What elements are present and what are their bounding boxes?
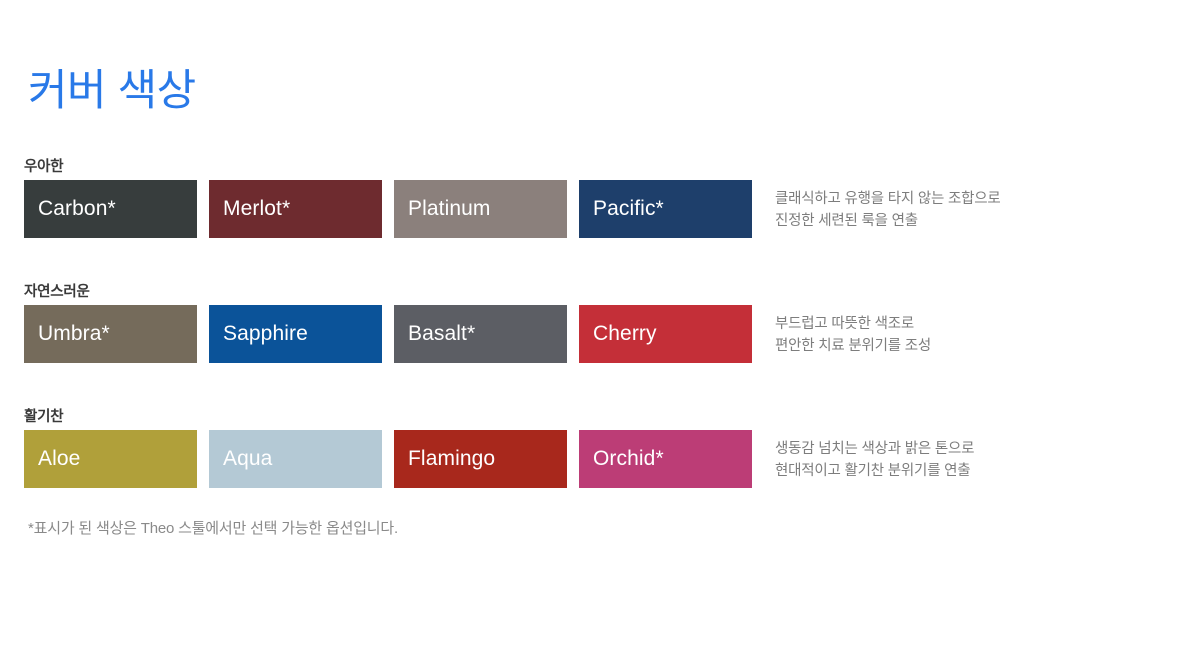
color-swatch-label: Platinum (408, 197, 491, 221)
color-swatch-label: Flamingo (408, 447, 495, 471)
color-swatch[interactable]: Cherry (579, 305, 752, 363)
color-group-description: 클래식하고 유행을 타지 않는 조합으로진정한 세련된 룩을 연출 (775, 188, 1001, 233)
color-swatch[interactable]: Merlot* (209, 180, 382, 238)
swatch-row: Carbon*Merlot*PlatinumPacific* (24, 180, 752, 238)
color-swatch[interactable]: Flamingo (394, 430, 567, 488)
color-swatch[interactable]: Basalt* (394, 305, 567, 363)
color-swatch-label: Pacific* (593, 197, 664, 221)
description-line: 부드럽고 따뜻한 색조로 (775, 313, 931, 335)
color-group-label: 자연스러운 (24, 280, 90, 301)
color-swatch[interactable]: Sapphire (209, 305, 382, 363)
color-swatch-label: Carbon* (38, 197, 116, 221)
color-swatch-label: Aloe (38, 447, 80, 471)
color-group: 활기찬AloeAquaFlamingoOrchid*생동감 넘치는 색상과 밝은… (0, 405, 1196, 530)
color-swatch-label: Aqua (223, 447, 272, 471)
color-swatch-label: Cherry (593, 322, 657, 346)
color-group-description: 부드럽고 따뜻한 색조로편안한 치료 분위기를 조성 (775, 313, 931, 358)
color-swatch[interactable]: Pacific* (579, 180, 752, 238)
page-title: 커버 색상 (28, 68, 196, 115)
color-swatch-label: Orchid* (593, 447, 664, 471)
color-swatch-label: Merlot* (223, 197, 290, 221)
description-line: 클래식하고 유행을 타지 않는 조합으로 (775, 188, 1001, 210)
color-swatch[interactable]: Orchid* (579, 430, 752, 488)
color-group-description: 생동감 넘치는 색상과 밝은 톤으로현대적이고 활기찬 분위기를 연출 (775, 438, 974, 483)
color-swatch[interactable]: Platinum (394, 180, 567, 238)
color-swatch[interactable]: Umbra* (24, 305, 197, 363)
color-swatch-label: Umbra* (38, 322, 110, 346)
color-swatch[interactable]: Aqua (209, 430, 382, 488)
color-group-label: 활기찬 (24, 405, 63, 426)
description-line: 현대적이고 활기찬 분위기를 연출 (775, 460, 974, 482)
color-swatch-label: Basalt* (408, 322, 475, 346)
swatch-row: AloeAquaFlamingoOrchid* (24, 430, 752, 488)
description-line: 생동감 넘치는 색상과 밝은 톤으로 (775, 438, 974, 460)
footnote-text: *표시가 된 색상은 Theo 스툴에서만 선택 가능한 옵션입니다. (28, 517, 398, 538)
color-swatch[interactable]: Aloe (24, 430, 197, 488)
color-groups: 우아한Carbon*Merlot*PlatinumPacific*클래식하고 유… (0, 155, 1196, 530)
color-swatch[interactable]: Carbon* (24, 180, 197, 238)
color-swatch-label: Sapphire (223, 322, 308, 346)
color-group: 자연스러운Umbra*SapphireBasalt*Cherry부드럽고 따뜻한… (0, 280, 1196, 405)
description-line: 진정한 세련된 룩을 연출 (775, 210, 1001, 232)
color-group-label: 우아한 (24, 155, 63, 176)
color-group: 우아한Carbon*Merlot*PlatinumPacific*클래식하고 유… (0, 155, 1196, 280)
description-line: 편안한 치료 분위기를 조성 (775, 335, 931, 357)
swatch-row: Umbra*SapphireBasalt*Cherry (24, 305, 752, 363)
